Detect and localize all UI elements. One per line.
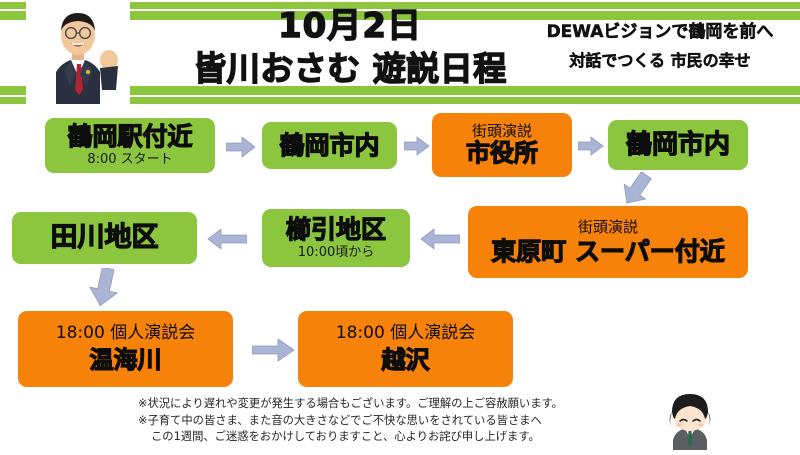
box-label: 櫛引地区 (286, 216, 386, 243)
campaign-slogan: DEWAビジョンで鶴岡を前へ 対話でつくる 市民の幸せ (520, 18, 800, 76)
disclaimer-line-1: ※状況により遅れや変更が発生する場合もございます。ご理解の上ご容赦願います。 (138, 396, 658, 413)
slogan-line-1-pre: DEWAビジョンで (547, 22, 689, 42)
arrow-left-icon (207, 228, 247, 250)
schedule-box-tsuruoka-city-2[interactable]: 鶴岡市内 (608, 120, 748, 170)
schedule-box-atsumigawa-speech[interactable]: 18:00 個人演説会 温海川 (18, 311, 233, 387)
arrow-right-icon (226, 136, 256, 158)
box-toplabel: 18:00 個人演説会 (56, 324, 195, 343)
schedule-box-city-hall[interactable]: 街頭演説 市役所 (432, 113, 572, 177)
candidate-portrait-photo (26, 0, 130, 104)
schedule-box-tagawa-district[interactable]: 田川地区 (12, 212, 197, 264)
box-label: 鶴岡駅付近 (67, 123, 192, 150)
arrow-left-icon (420, 228, 460, 250)
box-toplabel: 18:00 個人演説会 (336, 324, 475, 343)
slogan-line-2: 対話でつくる 市民の幸せ (520, 46, 800, 76)
box-label: 東原町 スーパー付近 (491, 238, 724, 265)
bowing-man-illustration-icon (655, 388, 725, 450)
box-label: 温海川 (90, 348, 162, 374)
box-toplabel: 街頭演説 (472, 123, 532, 140)
box-sublabel: 10:00頃から (298, 246, 374, 260)
title-main: 皆川おさむ 遊説日程 (150, 46, 550, 92)
header-banner: 10月2日 皆川おさむ 遊説日程 DEWAビジョンで鶴岡を前へ 対話でつくる 市… (0, 0, 800, 104)
box-label: 鶴岡市内 (626, 131, 730, 159)
arrow-right-icon (404, 136, 430, 156)
schedule-box-kushibiki-district[interactable]: 櫛引地区 10:00頃から (262, 209, 410, 267)
box-label: 鶴岡市内 (279, 132, 379, 159)
schedule-box-tsuruoka-station[interactable]: 鶴岡駅付近 8:00 スタート (45, 118, 215, 173)
box-toplabel: 街頭演説 (578, 219, 638, 236)
schedule-box-higashiharamachi-supermarket[interactable]: 街頭演説 東原町 スーパー付近 (468, 206, 748, 278)
disclaimer-note: ※状況により遅れや変更が発生する場合もございます。ご理解の上ご容赦願います。 ※… (138, 396, 658, 446)
slogan-line-1-post: を前へ (722, 22, 773, 42)
box-label: 市役所 (466, 141, 538, 167)
page-title: 10月2日 皆川おさむ 遊説日程 (150, 6, 550, 92)
arrow-right-icon (578, 136, 604, 156)
arrow-diagonal-down-left-icon (616, 172, 656, 208)
schedule-box-tsuruoka-city-1[interactable]: 鶴岡市内 (262, 122, 397, 169)
slogan-line-1-highlight: 鶴岡 (688, 22, 722, 42)
disclaimer-line-3: この1週間、ご迷惑をおかけしておりますこと、心よりお詫び申し上げます。 (138, 429, 658, 446)
box-sublabel: 8:00 スタート (87, 153, 172, 167)
title-date: 10月2日 (150, 6, 550, 46)
box-label: 越沢 (382, 348, 430, 374)
box-label: 田川地区 (51, 223, 159, 252)
disclaimer-line-2: ※子育て中の皆さま、また音の大きさなどでご不快な思いをされている皆さまへ (138, 413, 658, 430)
arrow-down-icon (88, 268, 120, 308)
arrow-right-icon (252, 338, 296, 362)
schedule-box-koshizawa-speech[interactable]: 18:00 個人演説会 越沢 (298, 311, 513, 387)
slogan-line-1: DEWAビジョンで鶴岡を前へ (520, 18, 800, 46)
